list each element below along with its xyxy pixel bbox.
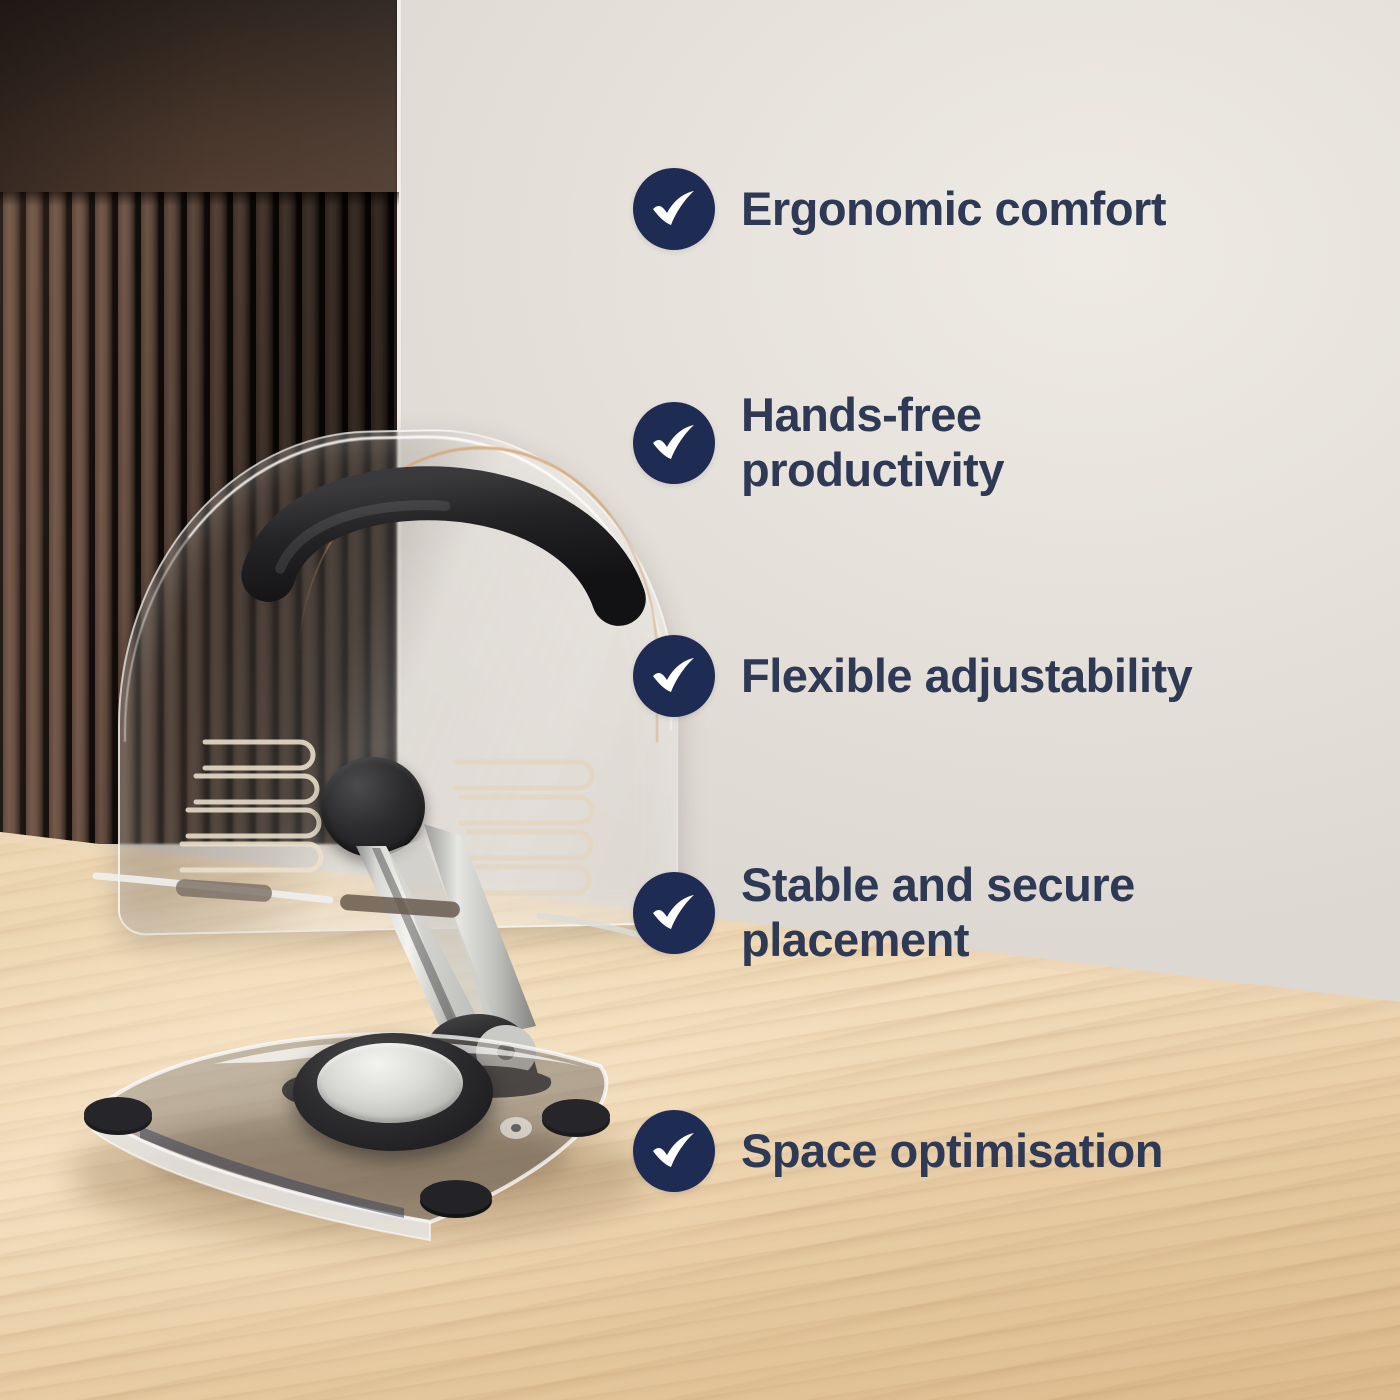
feature-label: Stable and secure placement xyxy=(741,858,1135,968)
feature-item-flexible-adjustability[interactable]: Flexible adjustability xyxy=(633,635,1192,717)
feature-item-stable-secure[interactable]: Stable and secure placement xyxy=(633,858,1135,968)
feature-item-ergonomic-comfort[interactable]: Ergonomic comfort xyxy=(633,168,1166,250)
feature-item-hands-free[interactable]: Hands-free productivity xyxy=(633,388,1004,498)
feature-label: Flexible adjustability xyxy=(741,649,1192,704)
feature-label: Space optimisation xyxy=(741,1124,1163,1179)
infographic-canvas: Ergonomic comfort Hands-free productivit… xyxy=(0,0,1400,1400)
feature-item-space-optimisation[interactable]: Space optimisation xyxy=(633,1110,1163,1192)
check-icon xyxy=(633,872,715,954)
feature-label: Hands-free productivity xyxy=(741,388,1004,498)
check-icon xyxy=(633,1110,715,1192)
check-icon xyxy=(633,402,715,484)
feature-list: Ergonomic comfort Hands-free productivit… xyxy=(0,0,1400,1400)
check-icon xyxy=(633,635,715,717)
check-icon xyxy=(633,168,715,250)
feature-label: Ergonomic comfort xyxy=(741,182,1166,237)
